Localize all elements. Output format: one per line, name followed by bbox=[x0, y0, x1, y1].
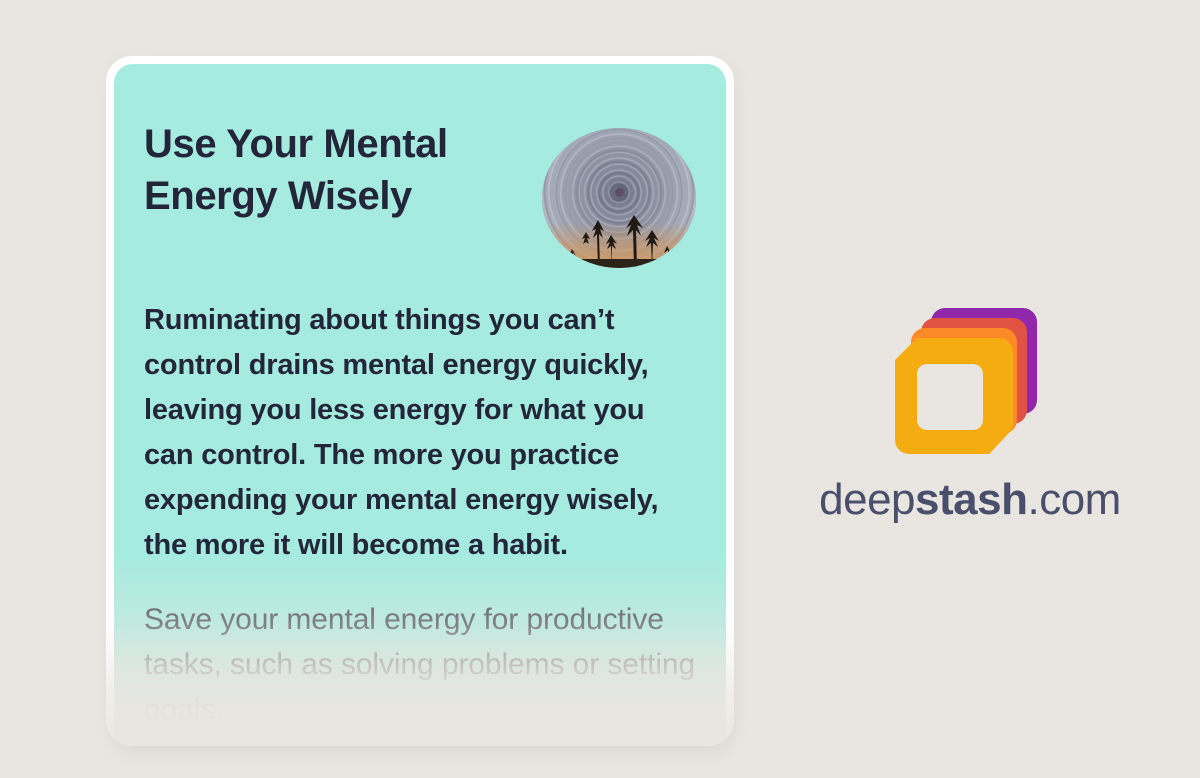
card-surface: Use Your Mental Energy Wisely bbox=[114, 64, 726, 746]
wordmark-deep: deep bbox=[819, 475, 915, 524]
page-stage: Use Your Mental Energy Wisely bbox=[0, 0, 1200, 778]
brand-block: deepstash.com bbox=[815, 300, 1125, 524]
deepstash-wordmark: deepstash.com bbox=[815, 476, 1125, 524]
deepstash-logo[interactable] bbox=[895, 300, 1045, 450]
logo-center-hole bbox=[917, 364, 983, 430]
wordmark-stash: stash bbox=[915, 475, 1027, 524]
celestial-pole-point bbox=[615, 188, 624, 197]
card-content: Use Your Mental Energy Wisely bbox=[114, 64, 726, 732]
wordmark-dotcom: .com bbox=[1027, 475, 1120, 524]
card-frame: Use Your Mental Energy Wisely bbox=[106, 56, 734, 746]
card-title: Use Your Mental Energy Wisely bbox=[144, 118, 514, 222]
card-subtext: Save your mental energy for productive t… bbox=[144, 597, 696, 732]
card-body-text: Ruminating about things you can’t contro… bbox=[144, 298, 696, 568]
star-trails-image bbox=[542, 128, 696, 268]
ground-line bbox=[542, 259, 696, 268]
idea-card[interactable]: Use Your Mental Energy Wisely bbox=[106, 56, 734, 756]
card-header: Use Your Mental Energy Wisely bbox=[144, 118, 696, 268]
